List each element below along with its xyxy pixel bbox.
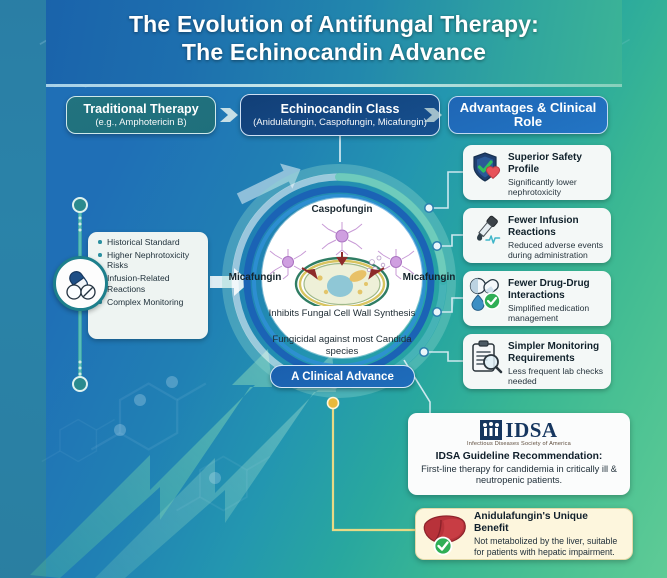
clipboard-magnifier-icon [469, 340, 503, 374]
page-title-line2: The Echinocandin Advance [46, 38, 622, 66]
anidulafungin-title: Anidulafungin's Unique Benefit [474, 511, 625, 535]
benefit-subtitle: Reduced adverse events during administra… [508, 240, 604, 260]
idsa-title: IDSA Guideline Recommendation: [416, 451, 622, 463]
benefit-subtitle: Significantly lower nephrotoxicity [508, 177, 604, 197]
benefit-title: Fewer Infusion Reactions [508, 215, 604, 238]
fungal-cell-icon [262, 214, 422, 306]
flow-box-advantages-clinical-role[interactable]: Advantages & Clinical Role [448, 96, 608, 134]
benefit-card-fewer-infusion-reactions[interactable]: Fewer Infusion Reactions Reduced adverse… [463, 208, 611, 263]
flow-echinocandin-title: Echinocandin Class [281, 102, 400, 116]
flow-traditional-title: Traditional Therapy [83, 102, 198, 116]
benefit-card-simpler-monitoring-requirements[interactable]: Simpler Monitoring Requirements Less fre… [463, 334, 611, 389]
list-item: Infusion-Related Reactions [98, 273, 204, 294]
idsa-logo-subtitle: Infectious Diseases Society of America [416, 441, 622, 447]
pills-check-icon [469, 277, 503, 311]
clinical-advance-badge[interactable]: A Clinical Advance [270, 365, 415, 388]
idsa-wordmark: IDSA [505, 419, 557, 441]
gold-connector [333, 403, 415, 530]
benefit-title: Fewer Drug-Drug Interactions [508, 278, 604, 301]
chevron-right-icon-2 [422, 104, 444, 126]
header-divider [46, 84, 622, 87]
flow-traditional-subtitle: (e.g., Amphotericin B) [95, 117, 186, 129]
idsa-subtitle: First-line therapy for candidemia in cri… [416, 464, 622, 486]
idsa-logo: IDSA [416, 418, 622, 442]
chevron-right-icon-1 [218, 104, 240, 126]
benefit-subtitle: Less frequent lab checks needed [508, 366, 604, 386]
anidulafungin-subtitle: Not metabolized by the liver, suitable f… [474, 536, 625, 557]
benefit-subtitle: Simplified medication management [508, 303, 604, 323]
flow-box-echinocandin-class[interactable]: Echinocandin Class (Anidulafungin, Caspo… [240, 94, 440, 136]
benefit-card-fewer-drug-drug-interactions[interactable]: Fewer Drug-Drug Interactions Simplified … [463, 271, 611, 326]
liver-check-icon [421, 512, 469, 556]
benefit-card-superior-safety-profile[interactable]: Superior Safety Profile Significantly lo… [463, 145, 611, 200]
flow-advantages-title: Advantages & Clinical Role [449, 101, 607, 129]
list-item: Historical Standard [98, 237, 204, 247]
central-mechanism-diagram: Caspofungin Micafungin Micafungin [222, 162, 457, 402]
benefit-title: Simpler Monitoring Requirements [508, 341, 604, 364]
center-mechanism-line1: Inhibits Fungal Cell Wall Synthesis [262, 308, 422, 320]
benefit-title: Superior Safety Profile [508, 152, 604, 175]
flow-echinocandin-subtitle: (Anidulafungin, Caspofungin, Micafungin) [253, 117, 427, 129]
list-item: Higher Nephrotoxicity Risks [98, 250, 204, 271]
infographic-canvas: The Evolution of Antifungal Therapy: The… [0, 0, 667, 578]
dropper-pulse-icon [469, 214, 503, 248]
page-title-line1: The Evolution of Antifungal Therapy: [46, 10, 622, 38]
pills-capsule-icon [53, 256, 108, 311]
idsa-recommendation-card[interactable]: IDSA Infectious Diseases Society of Amer… [408, 413, 630, 495]
traditional-therapy-list: Historical Standard Higher Nephrotoxicit… [98, 237, 204, 307]
page-title: The Evolution of Antifungal Therapy: The… [46, 10, 622, 66]
list-item: Complex Monitoring [98, 297, 204, 307]
shield-heart-icon [469, 151, 503, 185]
anidulafungin-benefit-card[interactable]: Anidulafungin's Unique Benefit Not metab… [415, 508, 633, 560]
center-mechanism-line2: Fungicidal against most Candida species [262, 334, 422, 357]
flow-box-traditional-therapy[interactable]: Traditional Therapy (e.g., Amphotericin … [66, 96, 216, 134]
idsa-crest-icon [480, 420, 502, 440]
